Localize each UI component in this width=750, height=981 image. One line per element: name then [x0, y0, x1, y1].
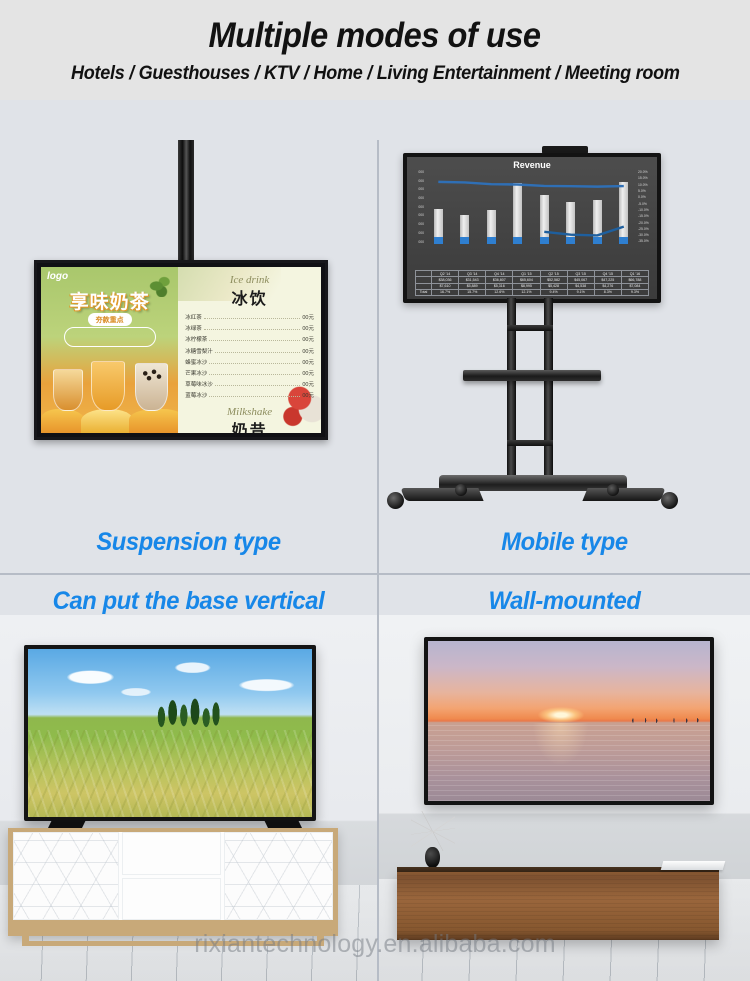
cabinet-drawer — [122, 878, 221, 921]
caption-mobile-type: Mobile type — [388, 528, 740, 557]
room-wall-right — [379, 615, 750, 981]
axis-tick: 000 — [418, 188, 424, 191]
axis-tick: -20.0% — [638, 222, 649, 225]
menu-item: 冰柠檬茶 00元 — [185, 335, 314, 343]
menu-item-leader — [209, 363, 300, 364]
menu-item-name: 冰柠檬茶 — [185, 335, 207, 343]
table-cell: 9.3% — [621, 289, 648, 295]
books-decoration — [661, 861, 726, 870]
axis-tick: -15.0% — [638, 215, 649, 218]
menu-caption-bubble — [64, 327, 156, 347]
bubble-tea-cup — [135, 363, 168, 411]
branch-decoration — [411, 811, 455, 851]
cart-leg-left — [400, 488, 483, 501]
tv-wall-mounted — [424, 637, 714, 805]
mode-cell-vertical-base: Can put the base vertical — [0, 575, 377, 981]
chart-title: Revenue — [411, 160, 653, 170]
chart-right-axis: 20.0%15.0%10.0%5.0%0.0%-5.0%-10.0%-15.0%… — [638, 171, 653, 244]
menu-item-leader — [209, 396, 300, 397]
leaf-decoration-icon — [146, 275, 172, 297]
chart-trend-lines — [425, 171, 637, 239]
menu-item-price: 00元 — [302, 313, 314, 321]
chart-data-table: Q2 '14Q3 '14Q4 '14Q1 '15Q2 '15Q3 '15Q4 '… — [415, 270, 649, 296]
menu-item-leader — [215, 385, 301, 386]
axis-tick: 0.0% — [638, 196, 646, 199]
axis-tick: -30.0% — [638, 234, 649, 237]
axis-tick: -25.0% — [638, 228, 649, 231]
axis-tick: -35.0% — [638, 240, 649, 243]
page-header: Multiple modes of use Hotels / Guesthous… — [0, 0, 750, 100]
axis-tick: 000 — [418, 171, 424, 174]
menu-item-name: 冰绿茶 — [185, 324, 202, 332]
sun-graphic — [538, 707, 584, 723]
table-cell: 12.6% — [486, 289, 513, 295]
cart-cross-brace — [507, 440, 553, 446]
menu-badge: 夯款重点 — [88, 313, 132, 326]
menu-poster-right: Ice drink 冰饮 冰红茶 00元 冰绿茶 00元 冰柠檬茶 00元 — [178, 267, 321, 433]
menu-logo: logo — [47, 271, 68, 282]
screen-content-field — [28, 649, 312, 817]
page-title: Multiple modes of use — [209, 16, 541, 56]
table-cell: 9.1% — [567, 289, 594, 295]
menu-item-leader — [204, 318, 301, 319]
axis-tick: 000 — [418, 232, 424, 235]
wooden-console — [397, 872, 719, 940]
mode-cell-suspension: logo 享味奶茶 夯款重点 Ice drink 冰饮 冰红茶 — [0, 140, 377, 573]
room-wall-left — [0, 615, 377, 981]
mode-cell-wall-mounted: Wall-mounted — [379, 575, 750, 981]
menu-heading-shake: 奶昔 — [185, 417, 314, 433]
axis-tick: -10.0% — [638, 209, 649, 212]
fruit-decoration — [81, 409, 133, 433]
axis-tick: 000 — [418, 206, 424, 209]
caption-wall-mounted: Wall-mounted — [388, 587, 740, 616]
cart-wheel — [607, 484, 619, 496]
table-cell: 16.7% — [432, 289, 459, 295]
menu-heading-ice: 冰饮 — [185, 285, 314, 309]
fruit-decoration — [129, 409, 178, 433]
cabinet-door — [13, 832, 119, 920]
menu-item-name: 草莓味冰沙 — [185, 380, 213, 388]
chart-screen: Revenue 000000000000000000000000000 20.0… — [407, 157, 657, 299]
cart-leg-right — [582, 488, 665, 501]
sea-graphic — [428, 723, 710, 801]
drink-cup — [91, 361, 125, 411]
axis-tick: 15.0% — [638, 177, 648, 180]
menu-item-name: 冰红茶 — [185, 313, 202, 321]
fruit-decoration — [41, 409, 85, 433]
grass-texture — [28, 730, 312, 817]
media-cabinet — [8, 828, 338, 936]
menu-item-name: 蜂蜜冰沙 — [185, 358, 207, 366]
table-row: Total16.7%15.7%12.6%12.1%9.4%9.1%8.3%9.3… — [416, 289, 649, 295]
cabinet-drawer-stack — [122, 832, 221, 920]
caption-suspension-type: Suspension type — [9, 528, 367, 557]
menu-item-leader — [209, 374, 300, 375]
vase-decoration — [425, 847, 440, 868]
axis-tick: 000 — [418, 241, 424, 244]
menu-item-price: 00元 — [302, 380, 314, 388]
menu-item-price: 00元 — [302, 335, 314, 343]
menu-item: 芒果冰沙 00元 — [185, 369, 314, 377]
menu-item-price: 00元 — [302, 347, 314, 355]
menu-item-price: 00元 — [302, 324, 314, 332]
menu-item-price: 00元 — [302, 369, 314, 377]
table-cell: 8.3% — [594, 289, 621, 295]
menu-item-leader — [215, 352, 301, 353]
menu-item-price: 00元 — [302, 391, 314, 399]
table-cell: 15.7% — [459, 289, 486, 295]
axis-tick: 000 — [418, 223, 424, 226]
ceiling-mount-pole — [178, 140, 194, 262]
menu-item-leader — [204, 329, 301, 330]
menu-item-name: 冰糖雪梨汁 — [185, 347, 213, 355]
people-silhouettes — [625, 717, 704, 723]
menu-item: 蓝莓冰沙 00元 — [185, 391, 314, 399]
axis-tick: 5.0% — [638, 190, 646, 193]
menu-item-name: 芒果冰沙 — [185, 369, 207, 377]
menu-item: 冰红茶 00元 — [185, 313, 314, 321]
drink-cup — [53, 369, 83, 411]
mode-cell-mobile: Revenue 000000000000000000000000000 20.0… — [379, 140, 750, 573]
menu-item-name: 蓝莓冰沙 — [185, 391, 207, 399]
cart-shelf — [463, 370, 601, 381]
cart-wheel — [455, 484, 467, 496]
menu-item-leader — [209, 340, 300, 341]
modes-grid: logo 享味奶茶 夯款重点 Ice drink 冰饮 冰红茶 — [0, 100, 750, 981]
cart-wheel — [387, 492, 404, 509]
menu-item: 冰绿茶 00元 — [185, 324, 314, 332]
suspended-menu-display: logo 享味奶茶 夯款重点 Ice drink 冰饮 冰红茶 — [34, 260, 328, 440]
menu-item-price: 00元 — [302, 358, 314, 366]
table-row-label: Total — [416, 289, 432, 295]
axis-tick: 20.0% — [638, 171, 648, 174]
menu-item: 冰糖雪梨汁 00元 — [185, 347, 314, 355]
cart-cross-brace — [507, 325, 553, 331]
caption-base-vertical: Can put the base vertical — [9, 587, 367, 616]
chart-left-axis: 000000000000000000000000000 — [411, 171, 424, 244]
menu-item: 蜂蜜冰沙 00元 — [185, 358, 314, 366]
mobile-tv-cart: Revenue 000000000000000000000000000 20.0… — [379, 140, 750, 573]
menu-item: 草莓味冰沙 00元 — [185, 380, 314, 388]
cabinet-front — [13, 832, 333, 920]
cabinet-door — [224, 832, 333, 920]
axis-tick: 000 — [418, 214, 424, 217]
table-cell: 12.1% — [513, 289, 540, 295]
tv-screen-chart: Revenue 000000000000000000000000000 20.0… — [403, 153, 661, 303]
chart-plot-area: 000000000000000000000000000 20.0%15.0%10… — [425, 171, 637, 244]
screen-content-sunset — [428, 641, 710, 801]
tv-on-stand — [24, 645, 316, 821]
trees-graphic — [153, 691, 223, 728]
menu-poster-left: logo 享味奶茶 夯款重点 — [41, 267, 178, 433]
page-subtitle: Hotels / Guesthouses / KTV / Home / Livi… — [71, 63, 680, 85]
cart-wheel — [661, 492, 678, 509]
axis-tick: 000 — [418, 180, 424, 183]
cabinet-legs — [22, 932, 324, 946]
axis-tick: 10.0% — [638, 184, 648, 187]
axis-tick: 000 — [418, 197, 424, 200]
table-cell: 9.4% — [540, 289, 567, 295]
cabinet-drawer — [122, 832, 221, 875]
axis-tick: -5.0% — [638, 203, 647, 206]
